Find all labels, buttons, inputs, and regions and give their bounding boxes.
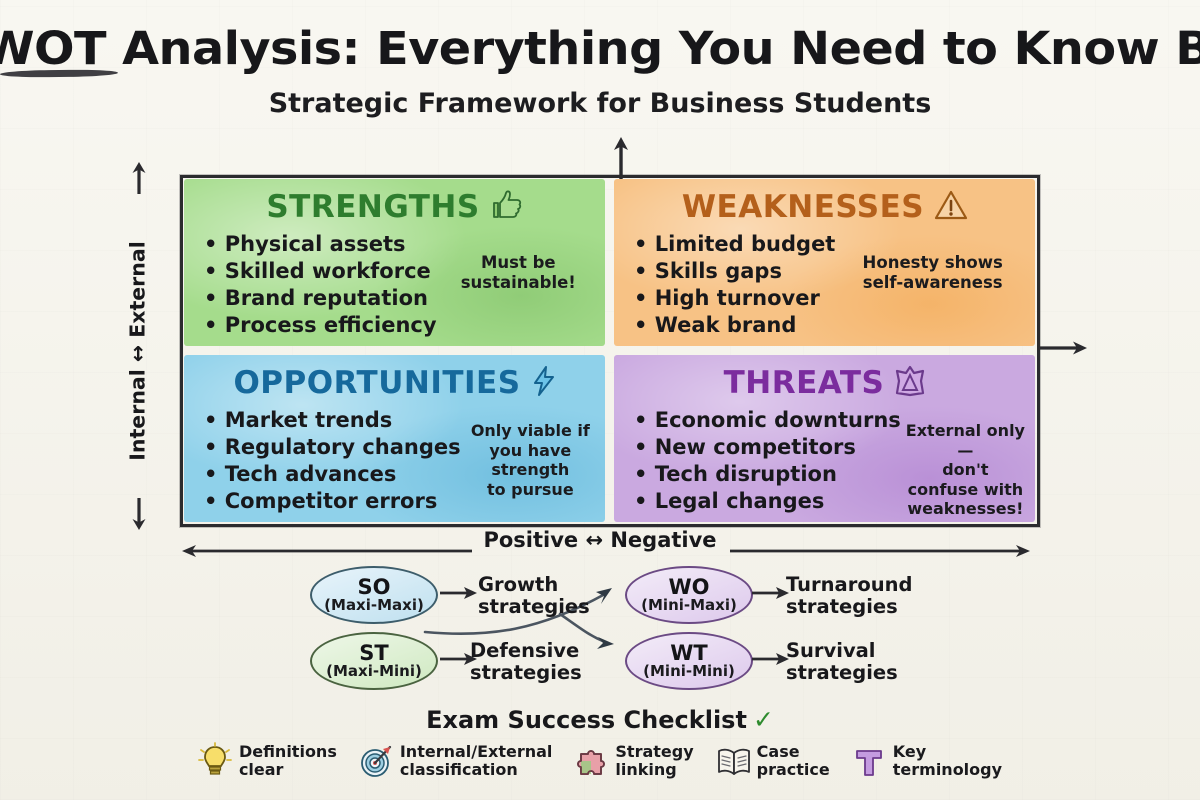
lightbulb-icon — [198, 742, 232, 780]
checklist-items: Definitions clear Internal/External clas… — [0, 742, 1200, 780]
checklist-title-row: Exam Success Checklist✓ — [0, 705, 1200, 734]
arrow-wt-to-survival-icon — [752, 650, 790, 668]
strategy-node-st-code: ST — [359, 642, 388, 664]
checklist-item-key-terminology-label: Key terminology — [893, 743, 1002, 779]
strategy-node-so-code: SO — [358, 576, 391, 598]
checklist-title: Exam Success Checklist — [426, 706, 747, 734]
target-icon — [359, 742, 393, 780]
checklist-item-case-practice[interactable]: Case practice — [716, 742, 830, 780]
list-item: Skilled workforce — [204, 258, 437, 285]
strategy-node-wt-sub: (Mini-Mini) — [643, 664, 735, 680]
strategy-node-st[interactable]: ST (Maxi-Mini) — [310, 632, 438, 690]
quadrant-opportunities[interactable]: OPPORTUNITIES Market trends Regulatory c… — [180, 351, 610, 527]
list-item: High turnover — [634, 285, 835, 312]
list-item: Physical assets — [204, 231, 437, 258]
strategy-node-wt-code: WT — [670, 642, 708, 664]
quadrant-opportunities-list: Market trends Regulatory changes Tech ad… — [194, 407, 461, 515]
quadrant-weaknesses-header: WEAKNESSES — [624, 189, 1026, 225]
arrow-down-icon — [131, 498, 147, 532]
matrix-top-arrow-icon — [612, 135, 630, 179]
list-item: Skills gaps — [634, 258, 835, 285]
list-item: Tech advances — [204, 461, 461, 488]
quadrant-weaknesses-note: Honesty shows self-awareness — [839, 231, 1026, 293]
strategy-label-defensive: Defensive strategies — [470, 640, 582, 684]
strategy-node-wo-code: WO — [668, 576, 709, 598]
quadrant-opportunities-title: OPPORTUNITIES — [233, 365, 520, 401]
strategy-label-survival: Survival strategies — [786, 640, 898, 684]
arrow-right-icon — [730, 543, 1030, 557]
quadrant-weaknesses-title: WEAKNESSES — [682, 189, 924, 225]
quadrant-opportunities-header: OPPORTUNITIES — [194, 365, 596, 401]
list-item: Economic downturns — [634, 407, 901, 434]
list-item: Tech disruption — [634, 461, 901, 488]
arrow-so-to-growth-icon — [440, 584, 478, 602]
strategy-node-st-sub: (Maxi-Mini) — [326, 664, 422, 680]
checklist-item-strategy-linking-label: Strategy linking — [615, 743, 693, 779]
quadrant-weaknesses[interactable]: WEAKNESSES Limited budget Skills gaps Hi… — [610, 175, 1040, 351]
matrix-right-arrow-icon — [1038, 338, 1088, 358]
thumbs-up-icon — [490, 189, 524, 225]
title-underline — [0, 69, 118, 77]
strategy-node-wt[interactable]: WT (Mini-Mini) — [625, 632, 753, 690]
infographic-canvas: SWOT Analysis: Everything You Need to Kn… — [0, 0, 1200, 800]
list-item: New competitors — [634, 434, 901, 461]
quadrant-strengths-header: STRENGTHS — [194, 189, 596, 225]
list-item: Market trends — [204, 407, 461, 434]
quadrant-weaknesses-list: Limited budget Skills gaps High turnover… — [624, 231, 835, 339]
quadrant-strengths-list: Physical assets Skilled workforce Brand … — [194, 231, 437, 339]
strategy-mapping-section: SO (Maxi-Maxi) ST (Maxi-Mini) WO (Mini-M… — [0, 560, 1200, 695]
strategy-node-wo[interactable]: WO (Mini-Maxi) — [625, 566, 753, 624]
letter-t-icon — [852, 742, 886, 780]
puzzle-piece-icon — [574, 742, 608, 780]
quadrant-strengths[interactable]: STRENGTHS Physical assets Skilled workfo… — [180, 175, 610, 351]
page-title: SWOT Analysis: Everything You Need to Kn… — [0, 22, 1200, 75]
quadrant-threats-note: External only — don't confuse with weakn… — [905, 407, 1026, 519]
lightning-bolt-icon — [531, 365, 557, 401]
checklist-item-key-terminology[interactable]: Key terminology — [852, 742, 1002, 780]
checklist-item-definitions[interactable]: Definitions clear — [198, 742, 337, 780]
quadrant-threats[interactable]: THREATS Economic downturns New competito… — [610, 351, 1040, 527]
open-book-icon — [716, 742, 750, 780]
shield-star-icon — [894, 365, 926, 401]
quadrant-threats-header: THREATS — [624, 365, 1026, 401]
quadrant-strengths-note: Must be sustainable! — [441, 231, 596, 293]
page-subtitle: Strategic Framework for Business Student… — [0, 88, 1200, 119]
quadrant-opportunities-note: Only viable if you have strength to purs… — [465, 407, 596, 499]
vertical-axis-text: Internal ↔ External — [126, 241, 150, 460]
swot-matrix: STRENGTHS Physical assets Skilled workfo… — [180, 175, 1040, 527]
list-item: Competitor errors — [204, 488, 461, 515]
strategy-node-wo-sub: (Mini-Maxi) — [641, 598, 737, 614]
vertical-axis-label: Internal ↔ External — [118, 175, 158, 527]
list-item: Limited budget — [634, 231, 835, 258]
quadrant-strengths-title: STRENGTHS — [266, 189, 479, 225]
strategy-node-so-sub: (Maxi-Maxi) — [324, 598, 424, 614]
quadrant-threats-list: Economic downturns New competitors Tech … — [624, 407, 901, 515]
checklist-item-classification[interactable]: Internal/External classification — [359, 742, 553, 780]
title-block: SWOT Analysis: Everything You Need to Kn… — [0, 22, 1200, 75]
quadrant-threats-title: THREATS — [724, 365, 885, 401]
strategy-node-so[interactable]: SO (Maxi-Maxi) — [310, 566, 438, 624]
strategy-label-growth: Growth strategies — [478, 574, 590, 618]
checklist-item-strategy-linking[interactable]: Strategy linking — [574, 742, 693, 780]
checkmark-icon: ✓ — [753, 705, 774, 734]
warning-triangle-icon — [934, 189, 968, 225]
list-item: Process efficiency — [204, 312, 437, 339]
checklist-item-classification-label: Internal/External classification — [400, 743, 553, 779]
list-item: Legal changes — [634, 488, 901, 515]
list-item: Brand reputation — [204, 285, 437, 312]
list-item: Regulatory changes — [204, 434, 461, 461]
list-item: Weak brand — [634, 312, 835, 339]
checklist-item-definitions-label: Definitions clear — [239, 743, 337, 779]
checklist-item-case-practice-label: Case practice — [757, 743, 830, 779]
strategy-label-turnaround: Turnaround strategies — [786, 574, 912, 618]
arrow-wo-to-turnaround-icon — [752, 584, 790, 602]
